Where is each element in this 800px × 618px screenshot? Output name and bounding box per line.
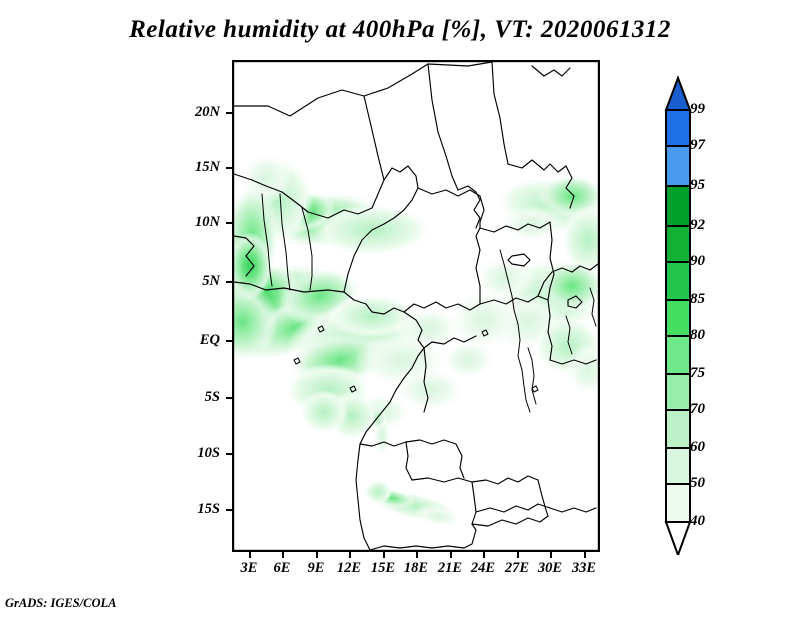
page-title: Relative humidity at 400hPa [%], VT: 202… bbox=[0, 16, 800, 44]
x-tick bbox=[550, 552, 552, 558]
colorbar-label-70: 70 bbox=[690, 402, 705, 417]
x-tick bbox=[483, 552, 485, 558]
colorbar-swatch-80-85 bbox=[666, 300, 690, 336]
colorbar-swatch-90-92 bbox=[666, 226, 690, 262]
colorbar-swatch-above-99 bbox=[666, 78, 690, 110]
colorbar-label-60: 60 bbox=[690, 440, 705, 455]
y-axis-label-20N: 20N bbox=[176, 104, 220, 121]
x-tick bbox=[249, 552, 251, 558]
y-tick bbox=[226, 112, 232, 114]
y-axis-label-5S: 5S bbox=[176, 389, 220, 406]
colorbar-label-50: 50 bbox=[690, 476, 705, 491]
colorbar-label-85: 85 bbox=[690, 292, 705, 307]
footer-credit: GrADS: IGES/COLA bbox=[5, 596, 117, 611]
colorbar-swatch-50-60 bbox=[666, 448, 690, 484]
colorbar-swatch-70-75 bbox=[666, 374, 690, 410]
colorbar-label-95: 95 bbox=[690, 178, 705, 193]
colorbar-swatch-97-99 bbox=[666, 110, 690, 146]
colorbar-label-40: 40 bbox=[690, 514, 705, 529]
y-tick bbox=[226, 509, 232, 511]
colorbar-swatch-75-80 bbox=[666, 336, 690, 374]
y-axis-label-15S: 15S bbox=[176, 501, 220, 518]
colorbar-swatch-85-90 bbox=[666, 262, 690, 300]
x-tick bbox=[383, 552, 385, 558]
y-axis-label-EQ: EQ bbox=[176, 332, 220, 349]
y-axis-label-10N: 10N bbox=[176, 214, 220, 231]
colorbar-swatch-95-97 bbox=[666, 146, 690, 186]
colorbar-svg bbox=[650, 70, 790, 555]
y-tick bbox=[226, 281, 232, 283]
y-axis-label-5N: 5N bbox=[176, 273, 220, 290]
colorbar-swatch-60-70 bbox=[666, 410, 690, 448]
y-tick bbox=[226, 167, 232, 169]
colorbar-swatch-92-95 bbox=[666, 186, 690, 226]
y-axis-label-15N: 15N bbox=[176, 159, 220, 176]
x-tick bbox=[349, 552, 351, 558]
y-tick bbox=[226, 222, 232, 224]
colorbar-label-92: 92 bbox=[690, 218, 705, 233]
x-axis-label-33E: 33E bbox=[564, 560, 604, 577]
colorbar-label-97: 97 bbox=[690, 138, 705, 153]
humidity-map bbox=[232, 60, 600, 552]
map-plot-area bbox=[232, 60, 600, 552]
x-tick bbox=[517, 552, 519, 558]
x-tick bbox=[316, 552, 318, 558]
x-tick bbox=[584, 552, 586, 558]
colorbar-swatch-below-40 bbox=[666, 522, 690, 555]
y-tick bbox=[226, 340, 232, 342]
x-tick bbox=[416, 552, 418, 558]
colorbar: 99 97 95 92 90 85 80 75 70 60 50 40 bbox=[650, 70, 790, 555]
y-tick bbox=[226, 397, 232, 399]
colorbar-label-80: 80 bbox=[690, 328, 705, 343]
colorbar-label-99: 99 bbox=[690, 102, 705, 117]
y-axis-label-10S: 10S bbox=[176, 445, 220, 462]
colorbar-label-90: 90 bbox=[690, 254, 705, 269]
x-tick bbox=[282, 552, 284, 558]
colorbar-label-75: 75 bbox=[690, 366, 705, 381]
x-tick bbox=[450, 552, 452, 558]
y-tick bbox=[226, 453, 232, 455]
colorbar-swatch-40-50 bbox=[666, 484, 690, 522]
